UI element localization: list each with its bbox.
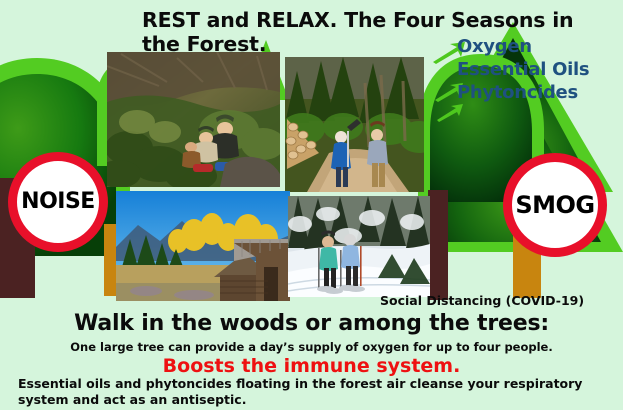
benefits-list: Oxygen Essential Oils Phytoncides — [457, 36, 623, 105]
essential-oils-paragraph: Essential oils and phytoncides floating … — [18, 376, 610, 407]
noise-sign-label: NOISE — [21, 191, 95, 213]
photo-autumn-cabin-aspens-meadow — [116, 191, 290, 301]
smog-prohibition-sign[interactable]: SMOG — [503, 153, 607, 257]
right-tree-trunk — [428, 190, 448, 300]
photo-summer-couple-walking-trail — [285, 57, 424, 192]
immune-system-headline: Boosts the immune system. — [0, 355, 623, 377]
smog-sign-label: SMOG — [515, 193, 594, 217]
noise-prohibition-sign[interactable]: NOISE — [8, 152, 108, 252]
photo-spring-forest-hikers-resting — [107, 52, 280, 187]
social-distancing-caption: Social Distancing (COVID-19) — [380, 293, 623, 308]
walk-heading: Walk in the woods or among the trees: — [0, 311, 623, 336]
forest-health-poster: NOISE SMOG REST and RELAX. The Four Seas… — [0, 0, 623, 410]
arrow-up-right-icon-3 — [437, 104, 463, 122]
one-tree-oxygen-fact: One large tree can provide a day’s suppl… — [0, 340, 623, 354]
photo-winter-snowshoers-trail — [288, 196, 430, 297]
